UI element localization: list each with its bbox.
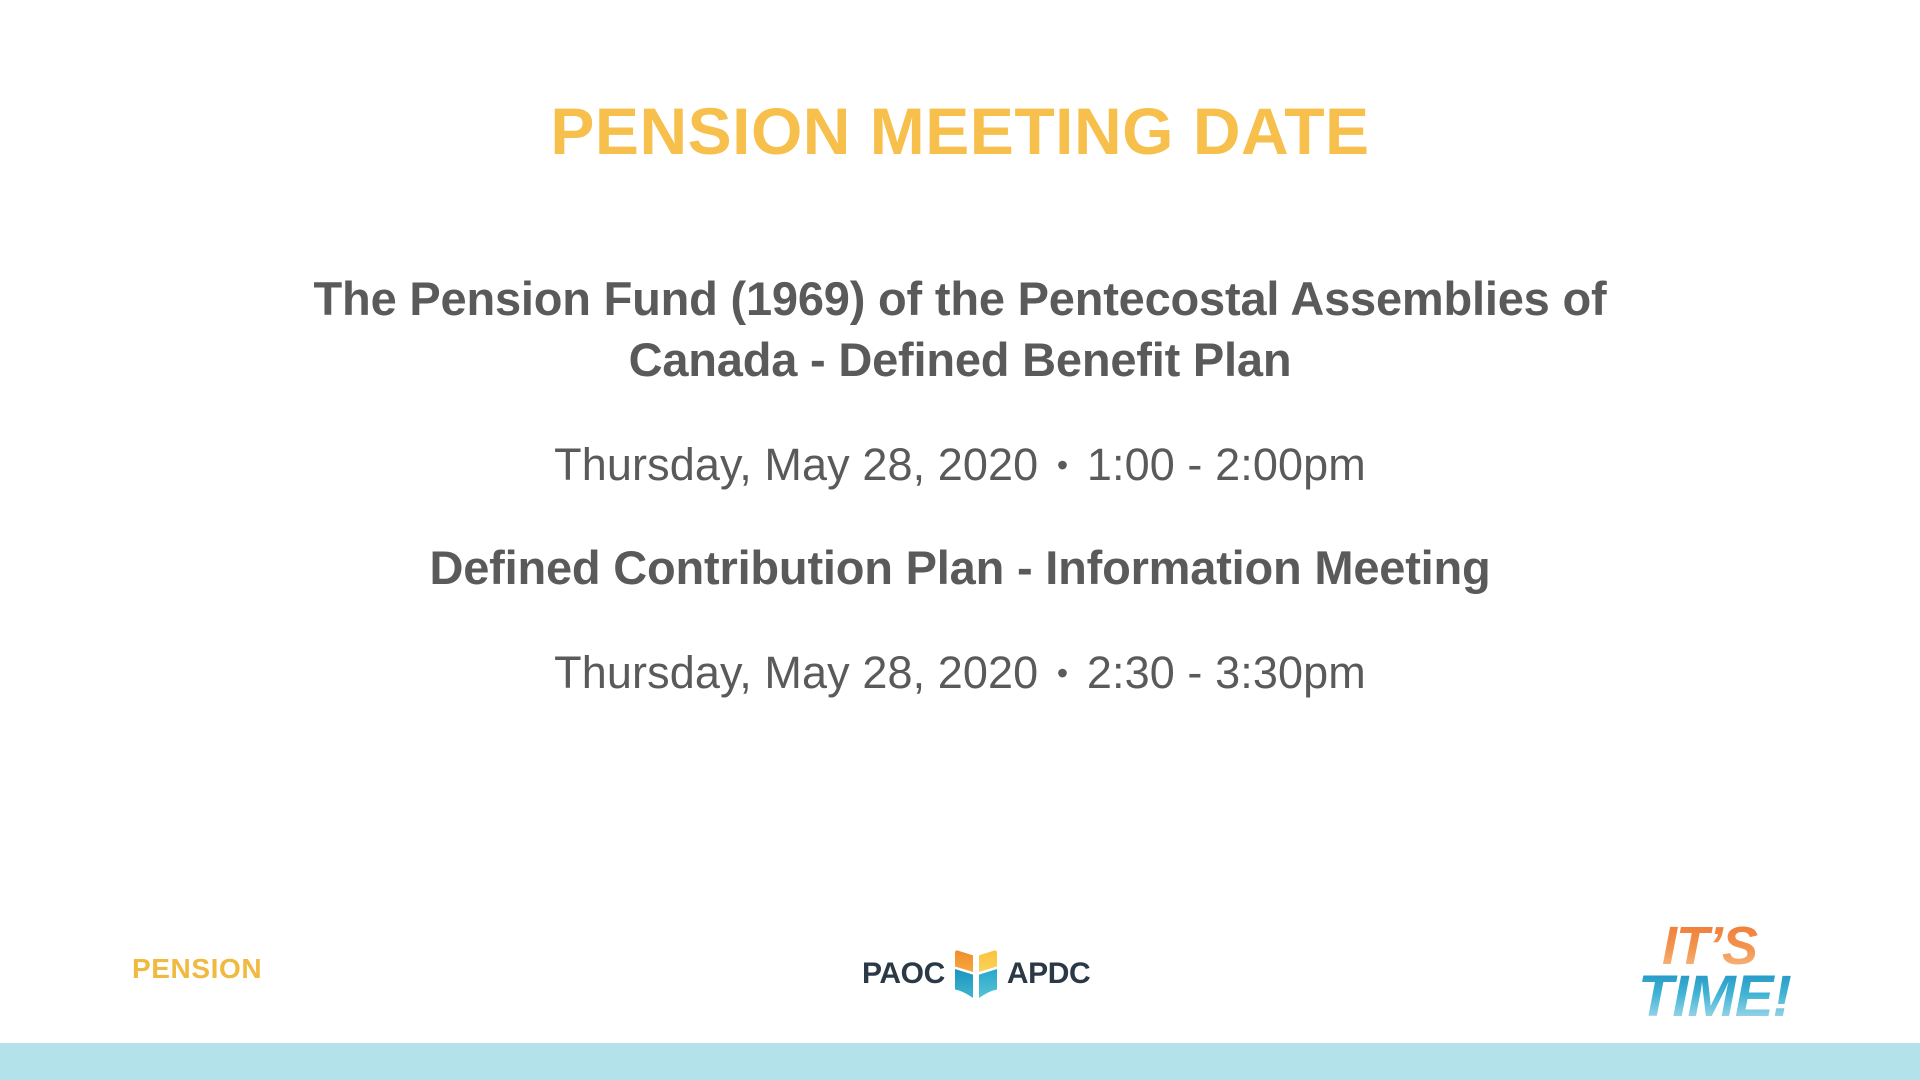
dc-plan-time: 2:30 - 3:30pm: [1087, 647, 1366, 698]
paoc-wordmark: PAOC: [862, 959, 945, 989]
spacer: [100, 495, 1820, 537]
spacer: [100, 390, 1820, 436]
its-time-line2-text: TIME!: [1638, 964, 1792, 1029]
dc-plan-heading: Defined Contribution Plan - Information …: [100, 537, 1820, 598]
pension-wordmark: PENSION: [132, 953, 262, 985]
apdc-wordmark: APDC: [1007, 959, 1090, 989]
bullet-separator-icon: •: [1051, 653, 1074, 695]
slide-body: The Pension Fund (1969) of the Pentecost…: [100, 268, 1820, 702]
bullet-separator-icon: •: [1051, 445, 1074, 487]
dc-plan-date: Thursday, May 28, 2020: [554, 647, 1038, 698]
db-plan-meeting-time: Thursday, May 28, 2020 • 1:00 - 2:00pm: [100, 436, 1820, 495]
db-plan-heading-line2: Canada - Defined Benefit Plan: [629, 333, 1292, 386]
bottom-accent-bar: [0, 1043, 1920, 1080]
dc-plan-meeting-time: Thursday, May 28, 2020 • 2:30 - 3:30pm: [100, 644, 1820, 703]
db-plan-time: 1:00 - 2:00pm: [1087, 439, 1366, 490]
slide-footer: PENSION PAOC: [0, 920, 1920, 1043]
page-title: PENSION MEETING DATE: [0, 96, 1920, 167]
its-time-logo: IT’S TIME!: [1632, 912, 1862, 1032]
paoc-apdc-logo: PAOC: [862, 944, 1090, 1004]
db-plan-heading: The Pension Fund (1969) of the Pentecost…: [100, 268, 1820, 390]
spacer: [100, 598, 1820, 644]
db-plan-heading-line1: The Pension Fund (1969) of the Pentecost…: [314, 272, 1607, 325]
slide-canvas: PENSION MEETING DATE The Pension Fund (1…: [0, 0, 1920, 1080]
open-book-icon: [954, 948, 998, 1000]
db-plan-date: Thursday, May 28, 2020: [554, 439, 1038, 490]
